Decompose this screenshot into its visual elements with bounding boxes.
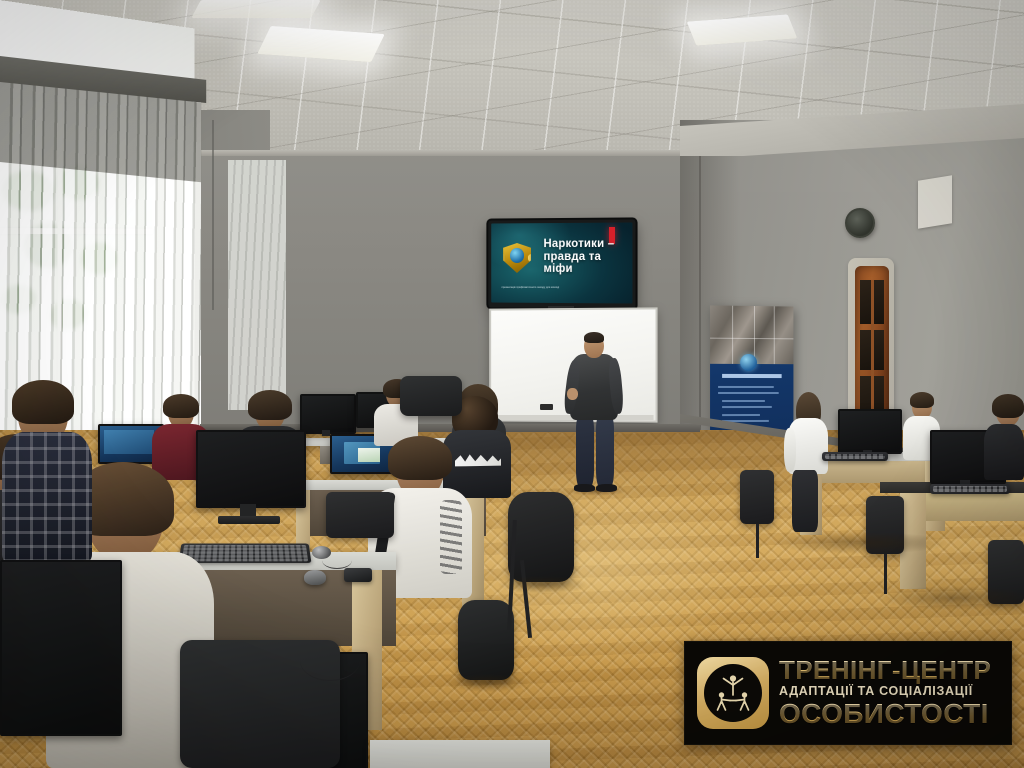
- presenter-shoe-right: [596, 484, 617, 492]
- smartphone[interactable]: [344, 568, 372, 582]
- logo-line-1: ТРЕНІНГ-ЦЕНТР: [779, 657, 999, 684]
- desktop-monitor: [838, 409, 902, 454]
- computer-mouse[interactable]: [304, 570, 326, 585]
- wall-clock: [845, 208, 875, 238]
- keyboard[interactable]: [179, 544, 312, 563]
- laptop-window: [358, 448, 380, 462]
- office-chair[interactable]: [740, 470, 774, 524]
- watermark-logo: ТРЕНІНГ-ЦЕНТР АДАПТАЦІЇ ТА СОЦІАЛІЗАЦІЇ …: [684, 641, 1012, 745]
- backpack-shadow: [446, 674, 530, 692]
- student-hair: [992, 394, 1024, 418]
- logo-badge: [697, 657, 769, 729]
- monitor-stand-neck: [322, 430, 330, 436]
- keyboard-keys: [825, 454, 885, 459]
- ceiling-trim-back: [200, 150, 700, 156]
- banner-text-line: [722, 400, 765, 402]
- wall-corner: [699, 150, 701, 450]
- photo-divider-row: [710, 338, 793, 340]
- globe-icon: [510, 248, 524, 262]
- computer-desk: [370, 740, 550, 768]
- backpack[interactable]: [508, 492, 574, 582]
- logo-line-3: ОСОБИСТОСТІ: [779, 699, 999, 729]
- backpack-shadow: [498, 576, 588, 594]
- student-legs: [792, 470, 818, 532]
- keyboard-keys: [182, 545, 308, 561]
- student-hair: [248, 390, 292, 420]
- ceiling-light-5: [191, 0, 321, 18]
- student-hair: [388, 436, 452, 480]
- police-shield-emblem-icon: [503, 243, 531, 273]
- blinds-cord[interactable]: [212, 120, 214, 310]
- slide-footer-text: презентація профілактичного заходу для м…: [502, 286, 586, 289]
- chair-leg: [884, 554, 887, 594]
- presenter-shoe-left: [574, 484, 595, 492]
- whiteboard-marker[interactable]: [540, 404, 553, 410]
- presenter-hand: [567, 388, 578, 400]
- student-body-plaid: [2, 432, 92, 562]
- desk-panel: [822, 461, 925, 483]
- banner-heading-bar: [722, 374, 782, 378]
- backpack[interactable]: [458, 600, 514, 680]
- slide-title-line2: правда та: [544, 250, 626, 263]
- desktop-monitor: [196, 430, 306, 508]
- classroom-photo: Наркотики – правда та міфи презентація п…: [0, 0, 1024, 768]
- student-arm: [784, 428, 796, 472]
- banner-text-line: [722, 414, 760, 416]
- laptop-screen-content: [104, 430, 154, 454]
- presenter-leg-right: [596, 416, 614, 488]
- desk-shadow: [880, 586, 1024, 610]
- student-hair: [12, 380, 74, 424]
- keyboard-keys: [933, 486, 1007, 492]
- keyboard[interactable]: [930, 484, 1010, 494]
- desktop-monitor: [0, 560, 122, 736]
- wooden-door[interactable]: [855, 266, 889, 430]
- door-mullion: [871, 280, 874, 420]
- presenter-leg-left: [576, 416, 594, 488]
- presenter-hair: [584, 332, 604, 343]
- wall-vent: [918, 175, 952, 228]
- keyboard[interactable]: [822, 452, 888, 461]
- banner-text-line: [718, 392, 778, 394]
- logo-line-2: АДАПТАЦІЇ ТА СОЦІАЛІЗАЦІЇ: [779, 684, 999, 699]
- chair-leg: [756, 524, 759, 558]
- slide-title-line3: міфи: [544, 263, 626, 276]
- logo-text-block: ТРЕНІНГ-ЦЕНТР АДАПТАЦІЇ ТА СОЦІАЛІЗАЦІЇ …: [779, 657, 999, 729]
- banner-text-line: [718, 386, 773, 388]
- photo-divider-3: [774, 306, 775, 364]
- cable: [300, 640, 360, 681]
- banner-globe-icon: [740, 354, 757, 371]
- slide-title: Наркотики – правда та міфи: [544, 238, 626, 276]
- student-hair: [163, 394, 199, 418]
- office-chair[interactable]: [326, 492, 394, 538]
- three-people-figure-icon: [704, 664, 762, 722]
- photo-divider-1: [732, 306, 733, 364]
- student-hair: [910, 392, 934, 408]
- desk-shadow: [770, 532, 950, 554]
- shirt-print: [440, 500, 462, 574]
- slide-title-line1: Наркотики –: [544, 238, 626, 251]
- desk-panel: [926, 493, 1024, 521]
- office-chair[interactable]: [400, 376, 462, 416]
- cable: [322, 552, 352, 569]
- monitor-base: [218, 516, 280, 524]
- desktop-monitor: [300, 394, 356, 434]
- banner-text-line: [722, 406, 772, 408]
- student-body: [984, 424, 1024, 480]
- vertical-blinds-far: [228, 160, 286, 410]
